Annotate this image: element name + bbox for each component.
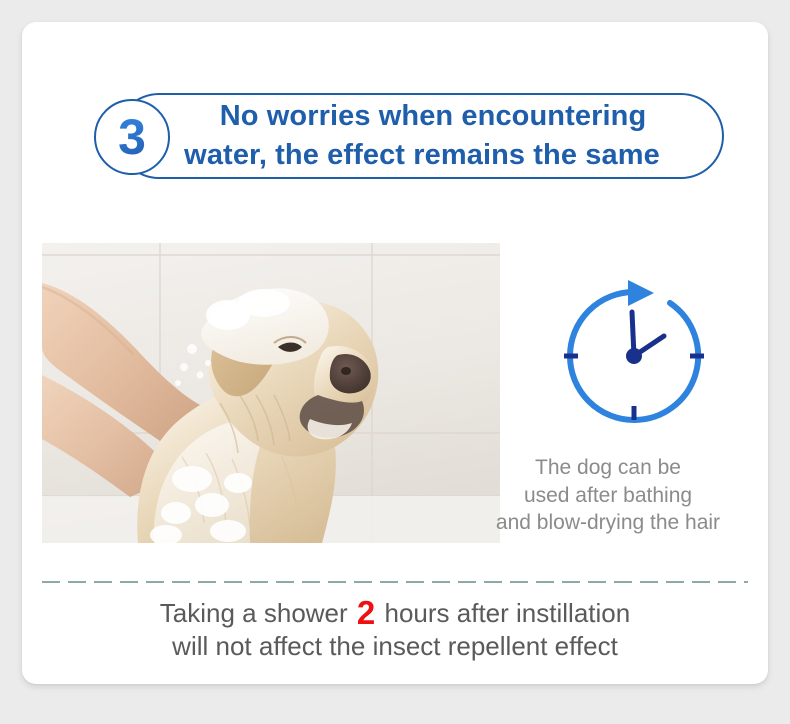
- bottom-caption-line-2: will not affect the insect repellent eff…: [38, 630, 752, 663]
- clock-caption-line-2: used after bathing: [474, 482, 742, 510]
- bottom-caption-line-1: Taking a shower 2 hours after instillati…: [38, 596, 752, 630]
- step-badge: 3: [94, 99, 170, 175]
- step-badge-number: 3: [96, 101, 168, 173]
- clock-caption-line-1: The dog can be: [474, 454, 742, 482]
- header-title-line-1: No worries when encountering: [198, 97, 647, 136]
- header-title: No worries when encountering water, the …: [142, 93, 702, 179]
- bottom-caption: Taking a shower 2 hours after instillati…: [38, 596, 752, 663]
- header-banner: No worries when encountering water, the …: [94, 93, 728, 181]
- header-title-line-2: water, the effect remains the same: [184, 136, 660, 175]
- feature-card: No worries when encountering water, the …: [22, 22, 768, 684]
- bottom-caption-text-after: hours after instillation: [385, 598, 631, 628]
- dashed-divider: [42, 581, 748, 583]
- bottom-caption-text-before: Taking a shower: [160, 598, 348, 628]
- bottom-caption-highlight-number: 2: [355, 594, 377, 631]
- clock-arrow-icon: [550, 276, 718, 438]
- dog-bathing-photo: [42, 243, 500, 543]
- clock-caption-line-3: and blow-drying the hair: [474, 509, 742, 537]
- clock-caption: The dog can be used after bathing and bl…: [474, 454, 742, 537]
